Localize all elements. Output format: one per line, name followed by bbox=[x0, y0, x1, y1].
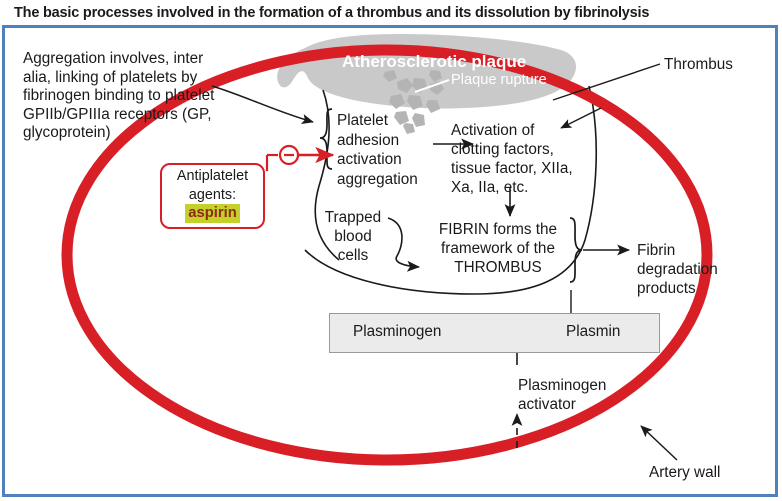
fibrin-degradation-products-label: Fibrin degradation products bbox=[637, 241, 729, 298]
diagram-canvas: Atherosclerotic plaque Plaque rupture Ag… bbox=[5, 28, 775, 494]
leader-plaque-rupture bbox=[415, 80, 449, 92]
plasminogen-label: Plasminogen bbox=[353, 323, 441, 341]
plasmin-label: Plasmin bbox=[566, 323, 620, 341]
trapped-blood-cells-label: Trapped blood cells bbox=[321, 208, 385, 265]
fibrin-framework-label: FIBRIN forms the framework of the THROMB… bbox=[430, 220, 566, 277]
leader-thrombus bbox=[553, 64, 660, 100]
antiplatelet-agents-text: Antiplatelet agents: aspirin bbox=[160, 167, 265, 223]
plasminogen-activator-label: Plasminogen activator bbox=[518, 376, 626, 414]
thrombus-label: Thrombus bbox=[664, 56, 733, 75]
leader-artery-wall bbox=[641, 426, 677, 460]
fibrin-brace bbox=[570, 218, 582, 282]
arrow-trapped-cells-to-fibrin bbox=[388, 218, 419, 267]
aspirin-highlight: aspirin bbox=[185, 204, 240, 223]
clotting-activation-label: Activation of clotting factors, tissue f… bbox=[451, 121, 581, 197]
platelet-steps-brace bbox=[320, 109, 332, 169]
platelet-steps-label: Platelet adhesion activation aggregation bbox=[337, 111, 429, 189]
artery-wall-label: Artery wall bbox=[649, 464, 720, 483]
plaque-rupture-label: Plaque rupture bbox=[451, 72, 547, 88]
atherosclerotic-plaque-label: Atherosclerotic plaque bbox=[342, 52, 526, 72]
aggregation-note: Aggregation involves, inter alia, linkin… bbox=[23, 50, 231, 143]
diagram-page: The basic processes involved in the form… bbox=[0, 0, 782, 501]
antiplatelet-agents-title: Antiplatelet agents: bbox=[177, 168, 248, 203]
inhibition-connector bbox=[267, 146, 333, 171]
diagram-frame: Atherosclerotic plaque Plaque rupture Ag… bbox=[2, 25, 778, 497]
page-title: The basic processes involved in the form… bbox=[14, 3, 754, 23]
